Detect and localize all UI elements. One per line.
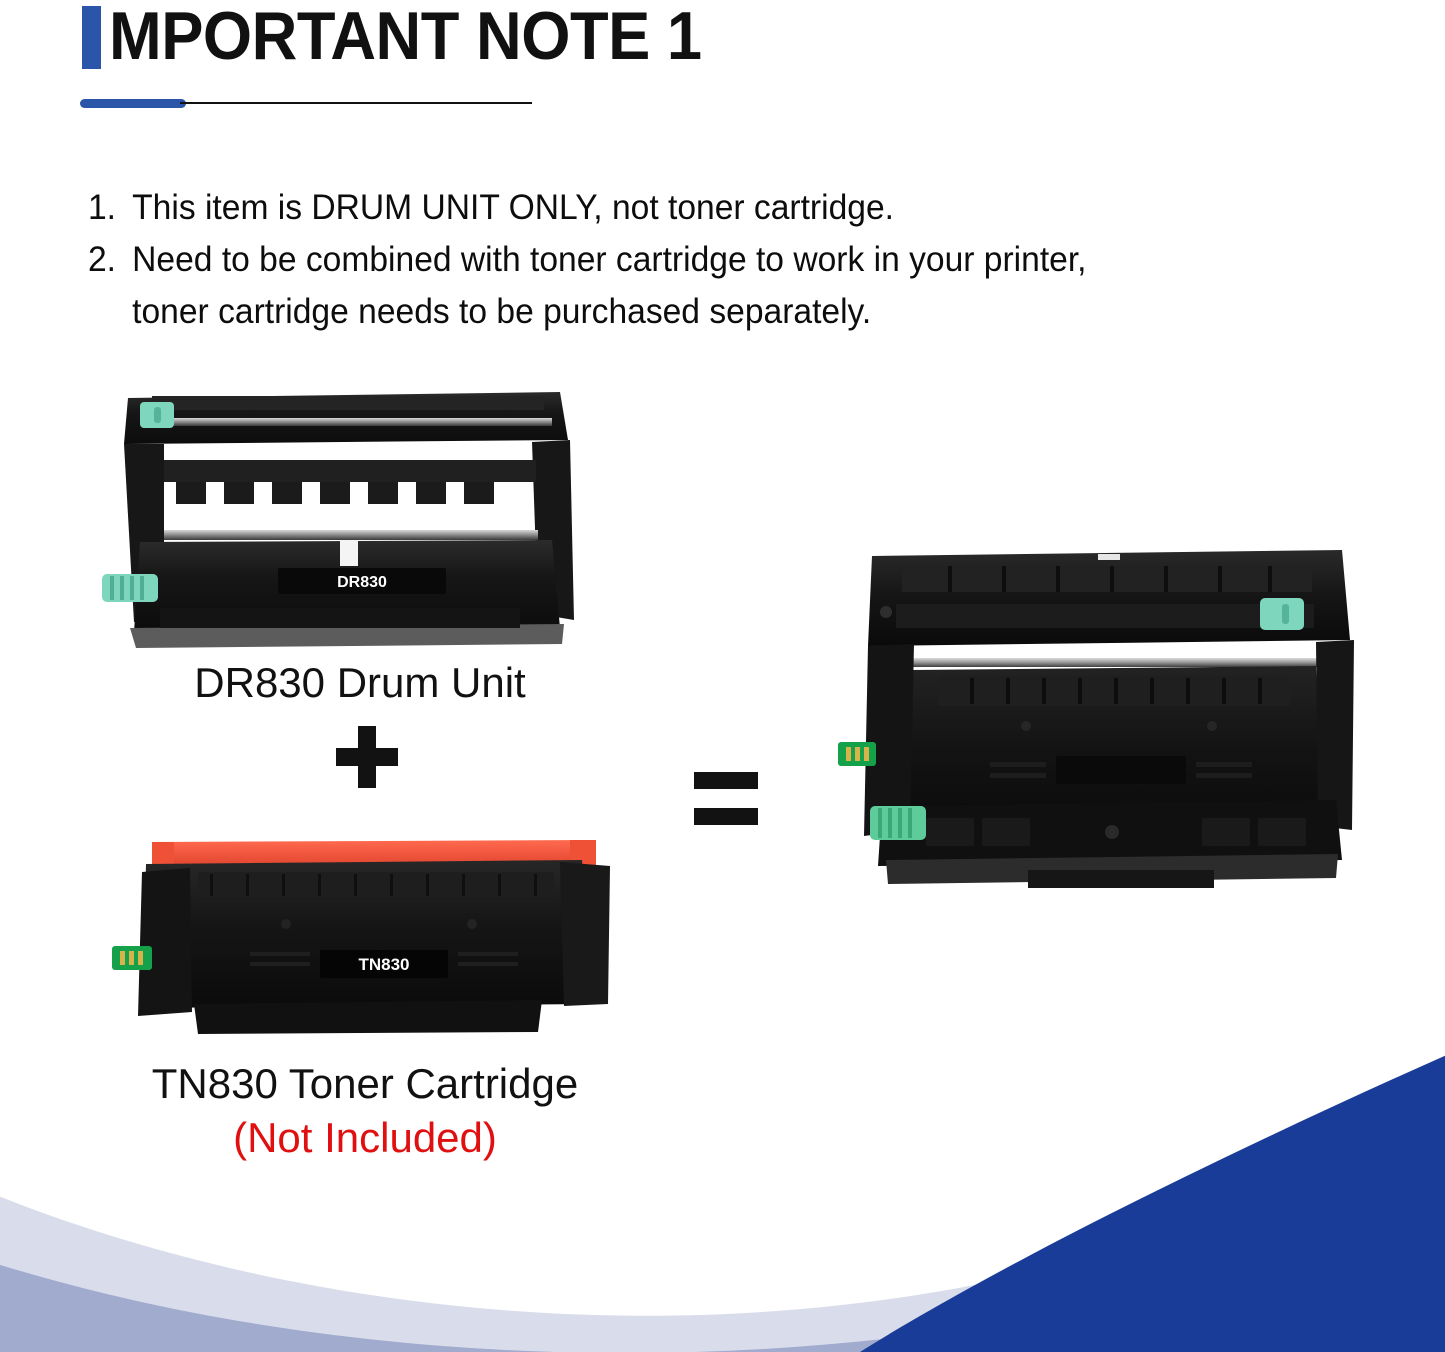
assembled-unit-product-image — [830, 530, 1390, 890]
toner-bottom-skirt — [194, 1000, 542, 1034]
note-text: Need to be combined with toner cartridge… — [132, 234, 1163, 338]
assembled-teal-tab-slot — [1282, 604, 1289, 624]
drum-bottom-shadow — [160, 608, 520, 628]
equals-top-bar — [694, 772, 758, 789]
drum-teal-tab-top-slot — [154, 407, 161, 423]
assembled-bottom-foot — [1028, 870, 1214, 888]
assembled-top-indicator — [1098, 554, 1120, 560]
title-accent-bar — [82, 6, 101, 69]
toner-not-included-note: (Not Included) — [80, 1112, 650, 1164]
page-title: MPORTANT NOTE 1 — [109, 0, 702, 72]
plus-vertical-bar — [358, 726, 376, 788]
infographic-page: MPORTANT NOTE 1 1. This item is DRUM UNI… — [0, 0, 1445, 1352]
assembled-tray-hole — [1105, 825, 1119, 839]
page-title-row: MPORTANT NOTE 1 — [82, 0, 746, 72]
assembled-green-gear — [870, 806, 926, 840]
drum-white-tab — [340, 540, 358, 566]
assembled-pivot-hole — [880, 606, 892, 618]
assembled-mesh-band — [896, 604, 1314, 628]
note-item: 1. This item is DRUM UNIT ONLY, not tone… — [88, 182, 1163, 234]
toner-label-text: TN830 — [358, 955, 409, 974]
divider-thick-segment — [80, 99, 186, 108]
toner-left-endcap — [138, 868, 192, 1016]
note-item: 2. Need to be combined with toner cartri… — [88, 234, 1163, 338]
plus-operator-icon — [336, 726, 398, 788]
toner-screw-left — [281, 919, 291, 929]
assembled-chip — [838, 742, 876, 766]
notes-list: 1. This item is DRUM UNIT ONLY, not tone… — [88, 182, 1208, 338]
drum-label-text: DR830 — [337, 574, 387, 591]
drum-unit-caption: DR830 Drum Unit — [100, 657, 620, 709]
drum-teal-gear-bottom — [102, 574, 158, 602]
note-text: This item is DRUM UNIT ONLY, not toner c… — [132, 182, 1163, 234]
assembled-drum-roller — [898, 658, 1328, 667]
assembled-toner-recess — [1056, 756, 1186, 784]
drum-charge-roller — [152, 418, 552, 426]
assembled-top-vents — [902, 566, 1312, 592]
equals-bottom-bar — [694, 808, 758, 825]
toner-cartridge-caption: TN830 Toner Cartridge — [80, 1058, 650, 1110]
divider-thin-line — [180, 102, 532, 104]
toner-chip — [112, 946, 152, 970]
assembled-screw-left — [1021, 721, 1031, 731]
assembled-screw-right — [1207, 721, 1217, 731]
drum-top-vents — [152, 396, 544, 410]
toner-right-endcap — [560, 862, 610, 1006]
toner-screw-right — [467, 919, 477, 929]
drum-comb-fingers — [176, 482, 494, 504]
note-number: 2. — [88, 234, 132, 338]
drum-mid-crossbar — [164, 460, 536, 482]
note-number: 1. — [88, 182, 132, 234]
toner-cartridge-product-image: TN830 — [98, 828, 626, 1038]
equals-operator-icon — [694, 772, 758, 830]
title-divider — [80, 96, 532, 110]
drum-unit-product-image: DR830 — [100, 382, 600, 654]
drum-opc-roller — [164, 530, 538, 540]
